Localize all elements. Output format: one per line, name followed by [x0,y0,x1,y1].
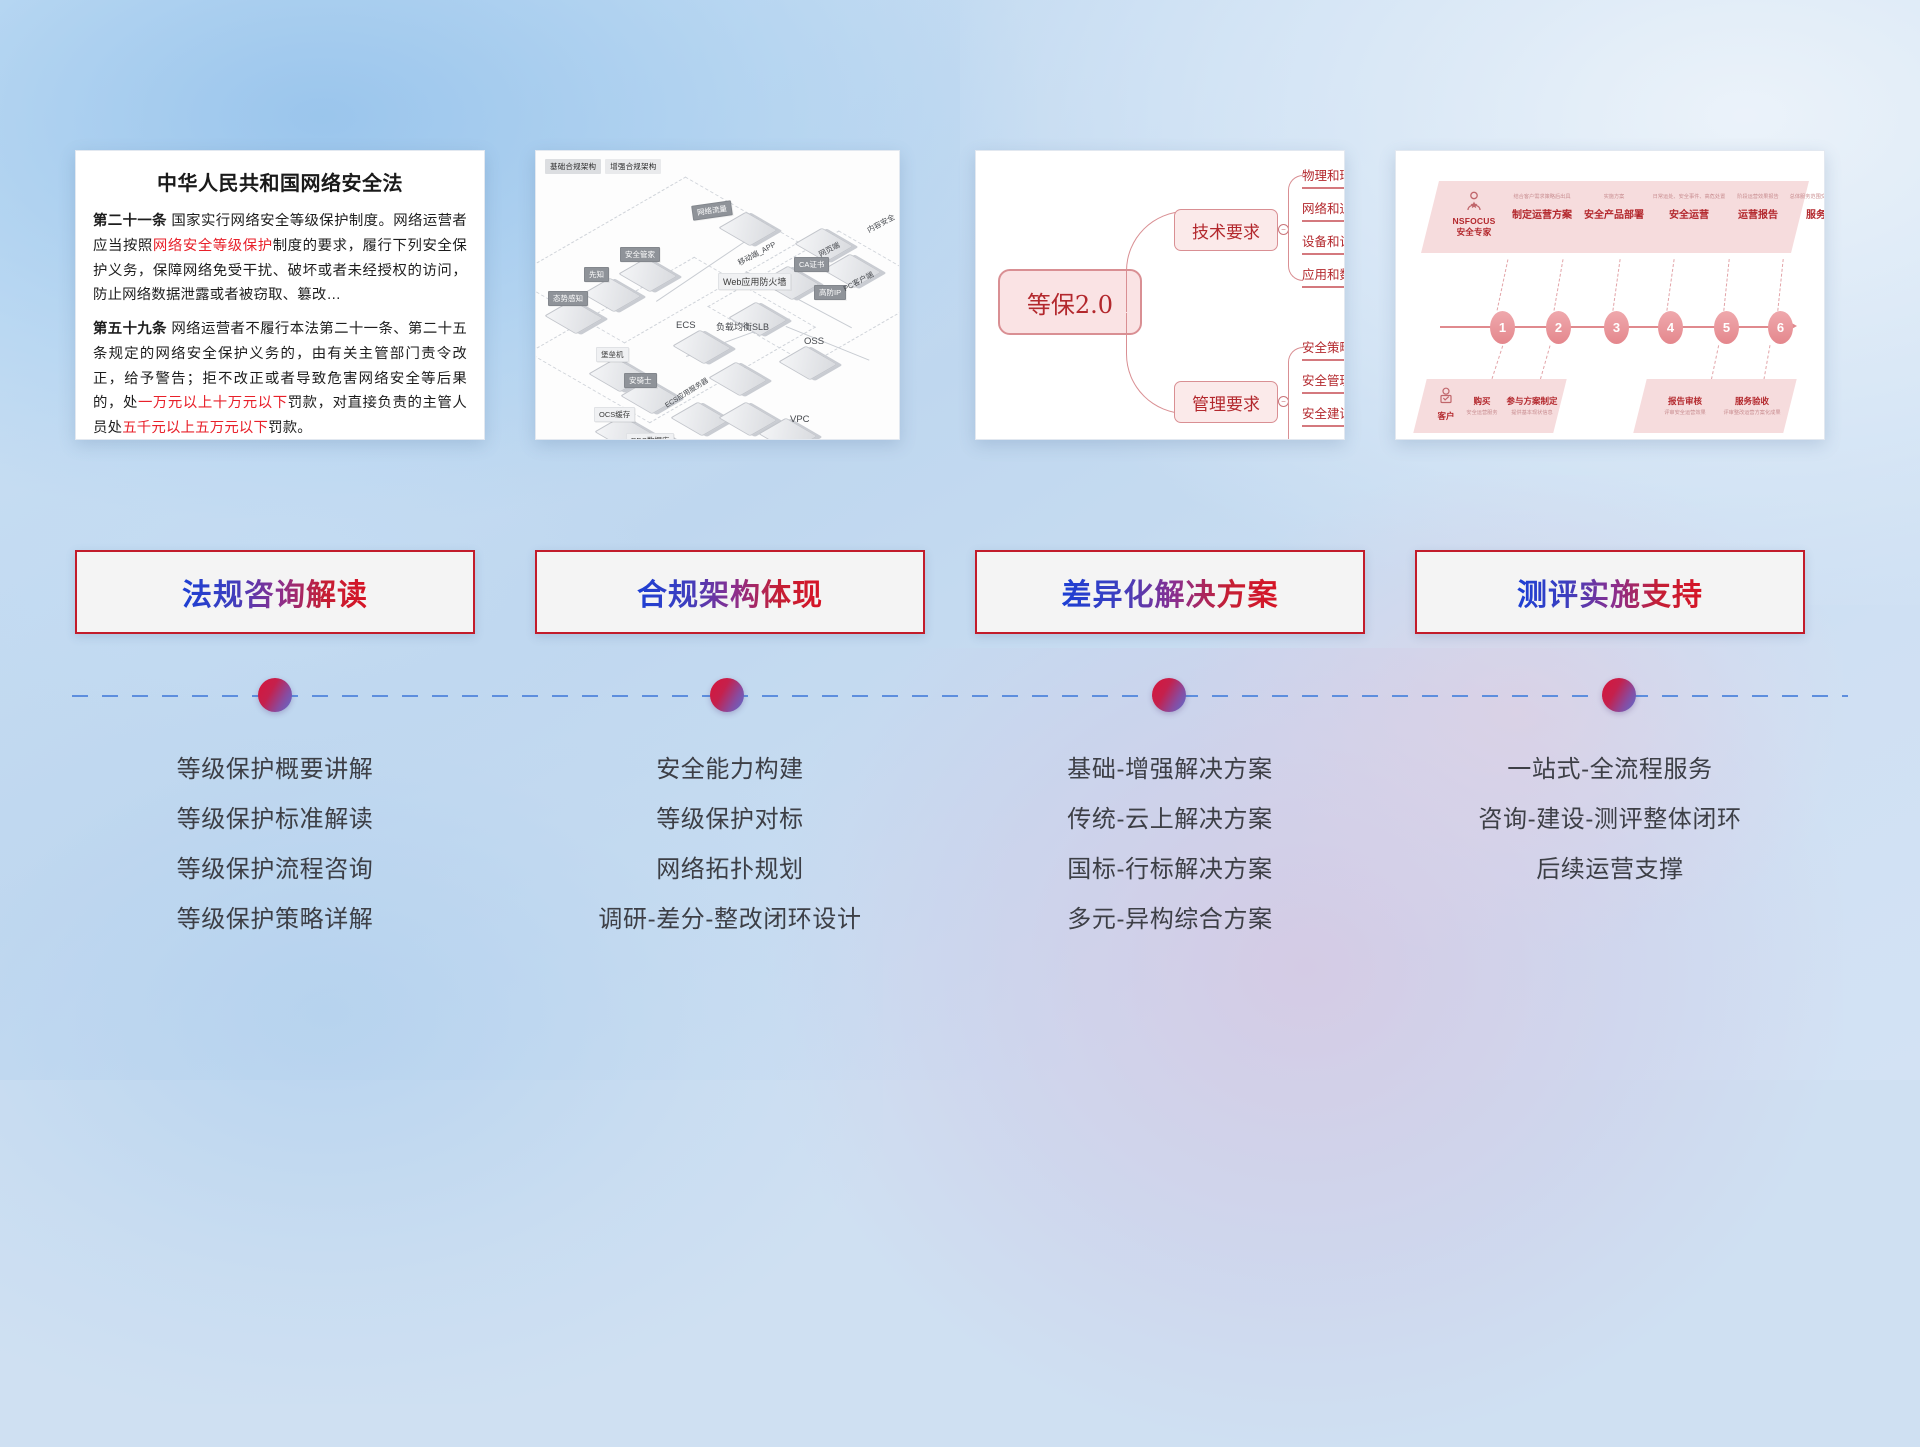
list-item: 安全能力构建 [530,745,930,795]
list-item: 调研-差分-整改闭环设计 [530,895,930,945]
list-column-differentiated-solution: 基础-增强解决方案 传统-云上解决方案 国标-行标解决方案 多元-异构综合方案 [970,745,1370,945]
slide-stage: 中华人民共和国网络安全法 第二十一条 国家实行网络安全等级保护制度。网络运营者应… [0,0,1920,1080]
list-column-assessment-support: 一站式-全流程服务 咨询-建设-测评整体闭环 后续运营支撑 [1410,745,1810,895]
heading-box-differentiated-solution[interactable]: 差异化解决方案 [975,550,1365,634]
heading-box-assessment-support[interactable]: 测评实施支持 [1415,550,1805,634]
timeline-dot-0[interactable] [258,678,292,712]
heading-text-3: 测评实施支持 [1517,570,1703,614]
heading-text-0: 法规咨询解读 [182,570,368,614]
list-item: 等级保护标准解读 [75,795,475,845]
list-item: 等级保护概要讲解 [75,745,475,795]
heading-text-2: 差异化解决方案 [1062,570,1279,614]
list-item: 等级保护流程咨询 [75,845,475,895]
list-item: 网络拓扑规划 [530,845,930,895]
list-item: 基础-增强解决方案 [970,745,1370,795]
timeline-dot-1[interactable] [710,678,744,712]
list-column-regulation-consulting: 等级保护概要讲解 等级保护标准解读 等级保护流程咨询 等级保护策略详解 [75,745,475,945]
timeline-dot-3[interactable] [1602,678,1636,712]
list-item: 后续运营支撑 [1410,845,1810,895]
list-item: 等级保护对标 [530,795,930,845]
list-item: 多元-异构综合方案 [970,895,1370,945]
list-item: 传统-云上解决方案 [970,795,1370,845]
list-item: 国标-行标解决方案 [970,845,1370,895]
heading-text-1: 合规架构体现 [637,570,823,614]
list-item: 等级保护策略详解 [75,895,475,945]
list-item: 一站式-全流程服务 [1410,745,1810,795]
list-column-compliance-architecture: 安全能力构建 等级保护对标 网络拓扑规划 调研-差分-整改闭环设计 [530,745,930,945]
timeline-dot-2[interactable] [1152,678,1186,712]
heading-box-regulation-consulting[interactable]: 法规咨询解读 [75,550,475,634]
list-item: 咨询-建设-测评整体闭环 [1410,795,1810,845]
timeline-dashed-line [72,694,1848,698]
heading-box-compliance-architecture[interactable]: 合规架构体现 [535,550,925,634]
